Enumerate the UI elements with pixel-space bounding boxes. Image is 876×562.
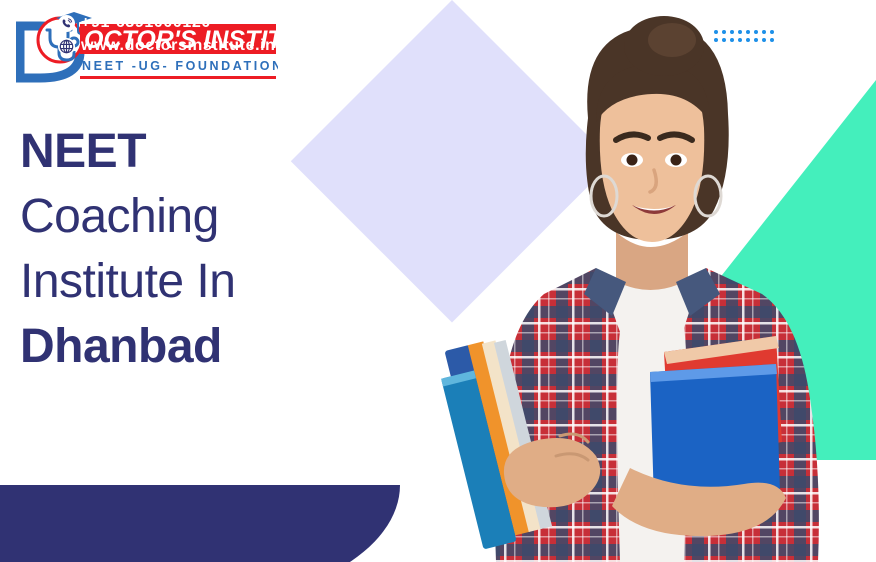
contact-website-text: www.doctorsinstitute.in — [81, 37, 276, 55]
student-photo — [420, 0, 876, 562]
headline-line-1: NEET — [20, 128, 420, 177]
headline-line-2: Coaching — [20, 193, 420, 242]
page-title: NEET Coaching Institute In Dhanbad — [20, 128, 420, 388]
contact-website-row[interactable]: www.doctorsinstitute.in — [58, 37, 276, 55]
headline-line-4: Dhanbad — [20, 323, 420, 372]
contact-details: +91-6391000120 www.doctorsinstitute.in — [58, 14, 276, 60]
promo-banner: OCTOR'S INSTITUTE NEET -UG- FOUNDATION N… — [0, 0, 876, 562]
contact-bar — [0, 485, 400, 562]
phone-circle-icon — [58, 15, 75, 32]
logo-tagline-text: NEET -UG- FOUNDATION — [82, 59, 278, 73]
globe-circle-icon — [58, 38, 75, 55]
contact-phone-text: +91-6391000120 — [81, 14, 211, 32]
contact-phone-row[interactable]: +91-6391000120 — [58, 14, 276, 32]
headline-line-3: Institute In — [20, 258, 420, 307]
